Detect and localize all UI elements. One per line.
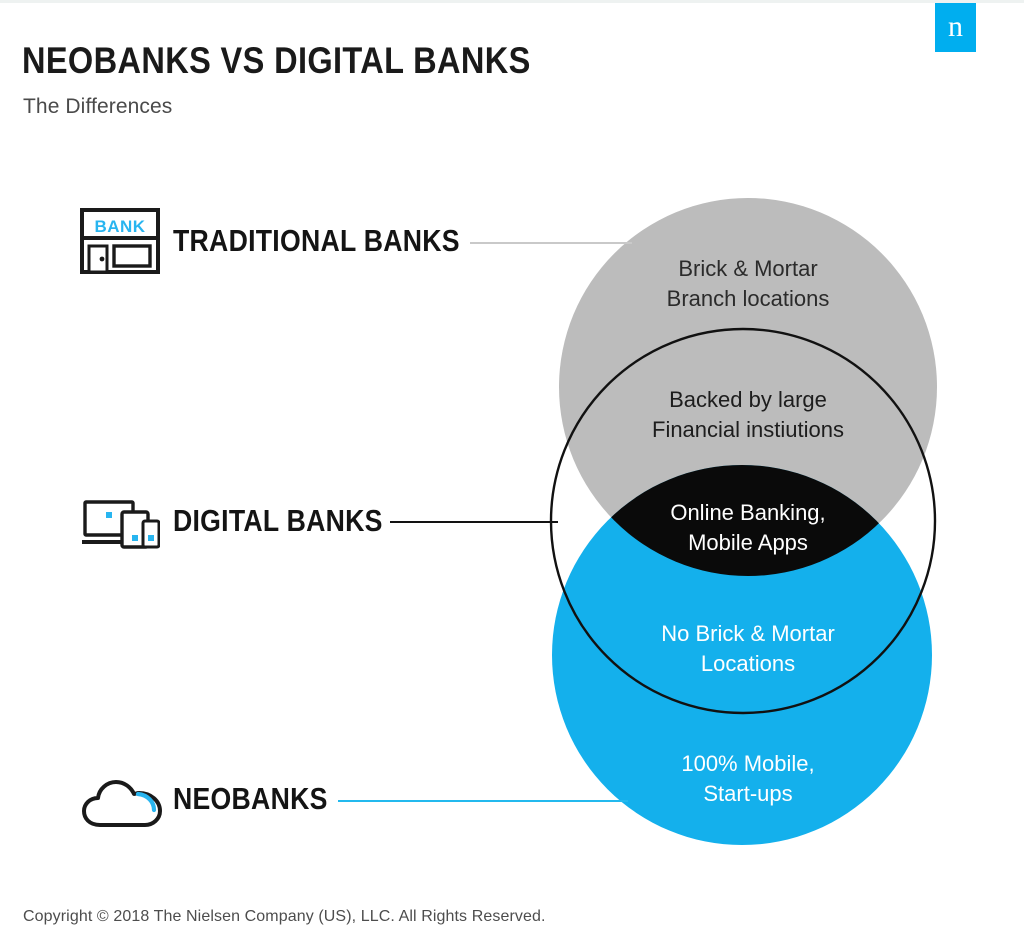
connector-traditional-banks (470, 242, 632, 244)
nielsen-logo: n (935, 3, 976, 52)
connector-digital-banks (390, 521, 558, 523)
nielsen-logo-letter: n (935, 3, 976, 52)
connector-neobanks (338, 800, 628, 802)
copyright-notice: Copyright © 2018 The Nielsen Company (US… (23, 908, 546, 926)
venn-label-backed-large: Backed by large Financial instiutions (578, 385, 918, 445)
venn-label-mobile-startup: 100% Mobile, Start-ups (578, 749, 918, 809)
page-subtitle: The Differences (23, 95, 172, 119)
venn-label-brick-mortar: Brick & Mortar Branch locations (578, 254, 918, 314)
infographic-page: n NEOBANKS VS DIGITAL BANKS The Differen… (0, 0, 1024, 944)
cloud-icon (82, 777, 164, 829)
bank-storefront-icon: BANK (80, 208, 160, 274)
devices-icon (82, 498, 160, 550)
sidebar-item-label-neobanks: NEOBANKS (173, 781, 328, 817)
sidebar-item-label-traditional-banks: TRADITIONAL BANKS (173, 223, 460, 259)
venn-label-online-banking: Online Banking, Mobile Apps (578, 498, 918, 558)
venn-label-no-brick: No Brick & Mortar Locations (578, 619, 918, 679)
sidebar-item-label-digital-banks: DIGITAL BANKS (173, 503, 383, 539)
top-divider (0, 0, 1024, 3)
page-title: NEOBANKS VS DIGITAL BANKS (22, 40, 531, 82)
bank-sign-text: BANK (94, 217, 145, 236)
